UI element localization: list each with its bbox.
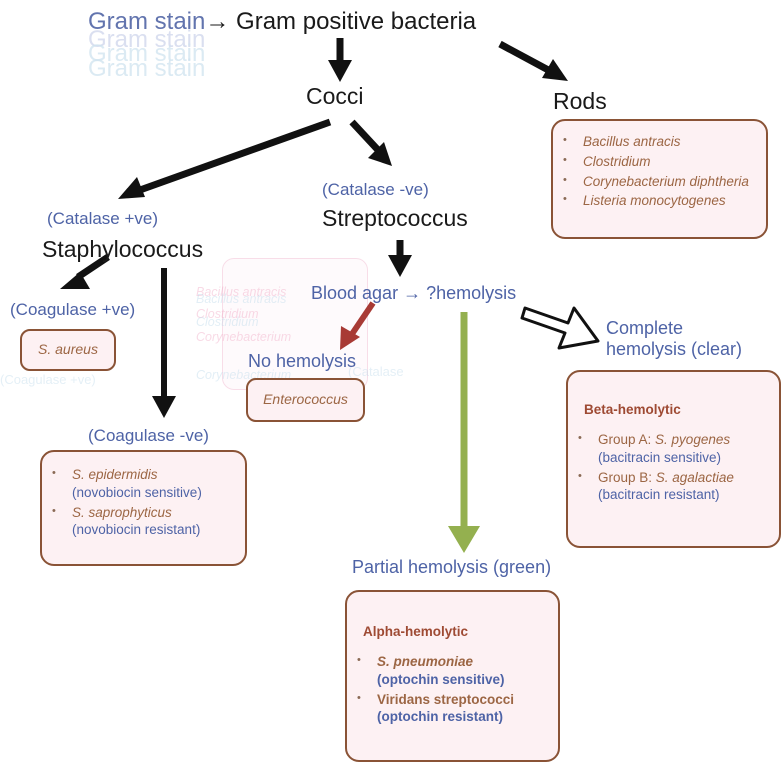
group-prefix: Group A: <box>598 432 655 447</box>
ghost-title-b: Gram stain <box>88 40 205 68</box>
species-name: Bacillus antracis <box>583 134 681 149</box>
arrow-staph-to-coagulase-neg <box>152 268 176 418</box>
ghost-line: Corynebacterium <box>196 330 291 344</box>
species-note: (bacitracin resistant) <box>598 486 779 504</box>
coagulase-negative-list: S. epidermidis (novobiocin sensitive) S.… <box>42 466 245 539</box>
alpha-hemolytic-list: S. pneumoniae (optochin sensitive) Virid… <box>347 653 558 726</box>
enterococcus-box: Enterococcus <box>246 378 365 422</box>
page-title-blue: Gram stain <box>88 8 205 35</box>
list-item: Group A: S. pyogenes (bacitracin sensiti… <box>568 431 779 467</box>
species-note: (novobiocin resistant) <box>72 521 245 539</box>
rods-box: Bacillus antracis Clostridium Corynebact… <box>551 119 768 239</box>
species-name: S. aureus <box>22 342 114 356</box>
alpha-hemolytic-box: Alpha-hemolytic S. pneumoniae (optochin … <box>345 590 560 762</box>
species-note: (novobiocin sensitive) <box>72 484 245 502</box>
beta-hemolytic-title: Beta-hemolytic <box>584 402 779 417</box>
ghost-line: (Coagulase +ve) <box>0 372 96 387</box>
species-name: Corynebacterium diphtheria <box>583 174 749 189</box>
s-aureus-box: S. aureus <box>20 329 116 371</box>
list-item: S. saprophyticus (novobiocin resistant) <box>42 504 245 540</box>
beta-hemolytic-list: Group A: S. pyogenes (bacitracin sensiti… <box>568 431 779 504</box>
ghost-title-c: Gram stain <box>88 55 205 83</box>
list-item: Viridans streptococci (optochin resistan… <box>347 691 558 727</box>
species-name: S. agalactiae <box>656 470 734 485</box>
species-name: Viridans streptococci <box>377 692 514 707</box>
beta-hemolytic-box: Beta-hemolytic Group A: S. pyogenes (bac… <box>566 370 781 548</box>
list-item: Clostridium <box>553 153 766 171</box>
label-catalase-negative: (Catalase -ve) <box>322 180 429 200</box>
list-item: S. pneumoniae (optochin sensitive) <box>347 653 558 689</box>
label-complete-hemolysis: Complete hemolysis (clear) <box>606 318 742 359</box>
label-blood-agar: Blood agar → ?hemolysis <box>311 283 516 304</box>
complete-hemolysis-line1: Complete <box>606 318 742 339</box>
species-note: (optochin resistant) <box>377 708 558 726</box>
species-name: S. pyogenes <box>655 432 730 447</box>
ghost-line: Bacillus antracis <box>196 292 286 306</box>
page-title-arrow: → <box>205 8 229 35</box>
alpha-hemolytic-title: Alpha-hemolytic <box>363 624 558 639</box>
list-item: Corynebacterium diphtheria <box>553 173 766 191</box>
species-note: (optochin sensitive) <box>377 671 558 689</box>
list-item: Bacillus antracis <box>553 133 766 151</box>
arrow-strep-to-blood-agar <box>388 240 412 277</box>
ghost-line: (Catalase <box>348 364 404 379</box>
group-prefix: Group B: <box>598 470 656 485</box>
species-name: Listeria monocytogenes <box>583 193 726 208</box>
arrow-cocci-to-strep <box>352 122 392 166</box>
label-partial-hemolysis: Partial hemolysis (green) <box>352 557 551 578</box>
label-coagulase-positive: (Coagulase +ve) <box>10 300 135 320</box>
label-catalase-positive: (Catalase +ve) <box>47 209 158 229</box>
rods-list: Bacillus antracis Clostridium Corynebact… <box>553 133 766 210</box>
node-staphylococcus: Staphylococcus <box>42 236 203 262</box>
species-name: S. saprophyticus <box>72 505 172 520</box>
coagulase-negative-box: S. epidermidis (novobiocin sensitive) S.… <box>40 450 247 566</box>
complete-hemolysis-line2: hemolysis (clear) <box>606 339 742 360</box>
arrow-title-to-cocci <box>328 38 352 82</box>
list-item: S. epidermidis (novobiocin sensitive) <box>42 466 245 502</box>
species-note: (bacitracin sensitive) <box>598 449 779 467</box>
page-title-black: Gram positive bacteria <box>236 8 476 35</box>
arrow-blood-agar-to-partial-hemolysis <box>448 312 480 553</box>
page-title: Gram stain→ Gram positive bacteria <box>88 8 476 36</box>
species-name: S. epidermidis <box>72 467 158 482</box>
species-name: S. pneumoniae <box>377 654 473 669</box>
label-coagulase-negative: (Coagulase -ve) <box>88 426 209 446</box>
node-streptococcus: Streptococcus <box>322 205 468 231</box>
label-no-hemolysis: No hemolysis <box>248 351 356 372</box>
arrow-title-to-rods <box>500 44 568 81</box>
species-name: Clostridium <box>583 154 651 169</box>
arrow-cocci-to-staph <box>118 122 330 199</box>
node-cocci: Cocci <box>306 83 364 109</box>
ghost-line: Clostridium <box>196 315 259 329</box>
list-item: Listeria monocytogenes <box>553 192 766 210</box>
flowchart-canvas: Gram stain Gram stain Gram stain Bacillu… <box>0 0 781 768</box>
arrow-blood-agar-to-complete-hemolysis <box>522 308 598 348</box>
list-item: Group B: S. agalactiae (bacitracin resis… <box>568 469 779 505</box>
species-name: Enterococcus <box>248 392 363 406</box>
node-rods: Rods <box>553 88 607 114</box>
